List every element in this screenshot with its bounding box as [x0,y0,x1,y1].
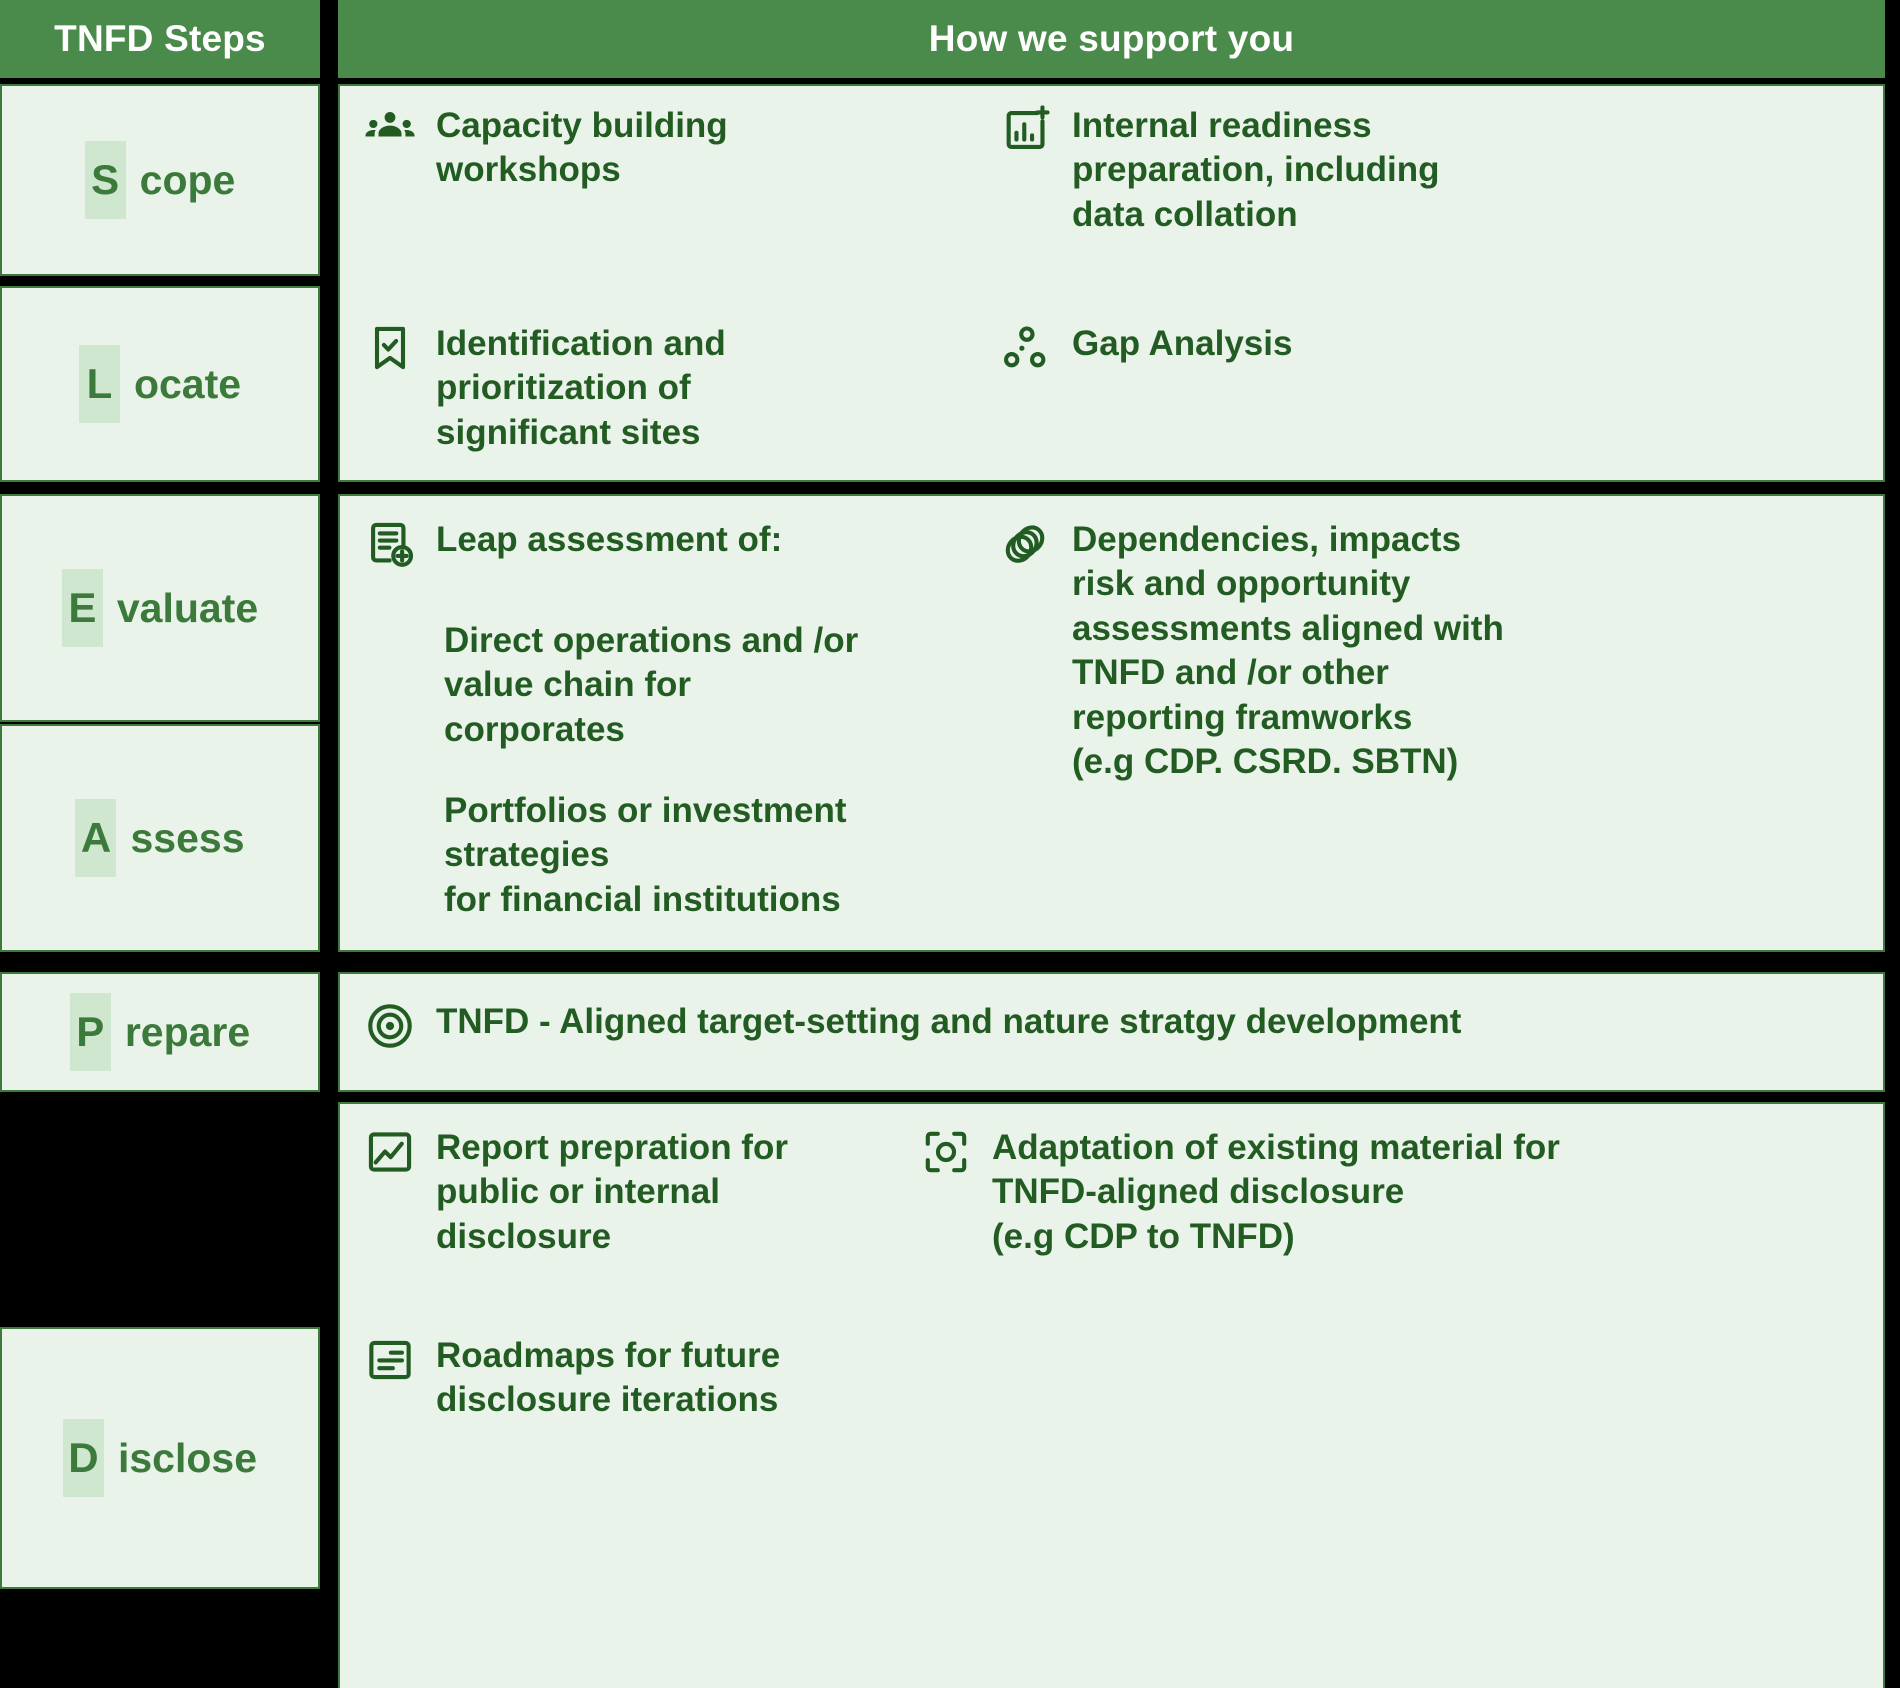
support-panel-evaluate-assess: Leap assessment of: Direct operations an… [338,494,1885,952]
step-label-disclose: isclose [118,1438,257,1479]
bookmark-check-icon [364,322,416,374]
support-panel-prepare: TNFD - Aligned target-setting and nature… [338,972,1885,1092]
bar-chart-add-icon [1000,104,1052,156]
header-tnfd-steps: TNFD Steps [0,0,320,78]
header-tnfd-steps-label: TNFD Steps [54,18,266,60]
support-item-adaptation-text: Adaptation of existing material for TNFD… [992,1126,1560,1259]
scan-focus-icon [920,1126,972,1178]
document-add-icon [364,518,416,570]
step-card-disclose[interactable]: D isclose [0,1327,320,1589]
overlapping-circles-icon [1000,518,1052,570]
header-support-label: How we support you [929,18,1294,60]
support-item-internal-readiness[interactable]: Internal readiness preparation, includin… [1000,104,1780,237]
support-item-dependencies-impacts[interactable]: Dependencies, impacts risk and opportuni… [1000,518,1870,785]
step-label-prepare: repare [125,1012,250,1053]
support-item-gap-analysis[interactable]: Gap Analysis [1000,322,1600,374]
step-card-locate[interactable]: L ocate [0,286,320,482]
support-item-capacity-building-text: Capacity building workshops [436,104,728,193]
step-label-locate: ocate [134,364,241,405]
support-item-leap-sub-portfolios: Portfolios or investment strategies for … [444,789,1064,922]
hub-nodes-icon [1000,322,1052,374]
tnfd-support-table: TNFD Steps How we support you S cope L o… [0,0,1900,1688]
support-item-report-preparation-text: Report prepration for public or internal… [436,1126,788,1259]
step-letter-disclose: D [63,1419,104,1497]
step-card-scope[interactable]: S cope [0,84,320,276]
support-item-roadmaps-text: Roadmaps for future disclosure iteration… [436,1334,780,1423]
step-letter-assess: A [75,799,116,877]
list-box-icon [364,1334,416,1386]
step-label-scope: cope [140,160,236,201]
step-letter-scope: S [85,141,126,219]
step-card-evaluate[interactable]: E valuate [0,494,320,722]
support-item-leap-assessment[interactable]: Leap assessment of: [364,518,924,570]
support-item-leap-sub-direct-operations: Direct operations and /or value chain fo… [444,619,1004,752]
step-letter-locate: L [79,345,120,423]
step-card-assess[interactable]: A ssess [0,724,320,952]
support-item-adaptation-existing-material[interactable]: Adaptation of existing material for TNFD… [920,1126,1870,1259]
support-item-leap-assessment-text: Leap assessment of: [436,518,782,562]
header-how-we-support-you: How we support you [338,0,1885,78]
image-chart-icon [364,1126,416,1178]
support-item-report-preparation[interactable]: Report prepration for public or internal… [364,1126,924,1259]
support-item-roadmaps[interactable]: Roadmaps for future disclosure iteration… [364,1334,964,1423]
support-item-tnfd-aligned-target-setting[interactable]: TNFD - Aligned target-setting and nature… [364,1000,1844,1052]
target-bullseye-icon [364,1000,416,1052]
support-item-gap-analysis-text: Gap Analysis [1072,322,1292,366]
step-letter-evaluate: E [62,569,103,647]
step-label-evaluate: valuate [117,588,258,629]
support-item-tnfd-target-text: TNFD - Aligned target-setting and nature… [436,1000,1461,1044]
support-item-internal-readiness-text: Internal readiness preparation, includin… [1072,104,1440,237]
support-panel-disclose: Report prepration for public or internal… [338,1102,1885,1688]
support-item-identification-prioritization[interactable]: Identification and prioritization of sig… [364,322,924,455]
people-group-icon [364,104,416,156]
support-item-capacity-building[interactable]: Capacity building workshops [364,104,924,193]
step-label-assess: ssess [130,818,244,859]
support-panel-scope-locate: Capacity building workshops Internal rea… [338,84,1885,482]
support-item-dependencies-text: Dependencies, impacts risk and opportuni… [1072,518,1504,785]
support-item-identification-text: Identification and prioritization of sig… [436,322,726,455]
step-card-prepare[interactable]: P repare [0,972,320,1092]
step-letter-prepare: P [70,993,111,1071]
